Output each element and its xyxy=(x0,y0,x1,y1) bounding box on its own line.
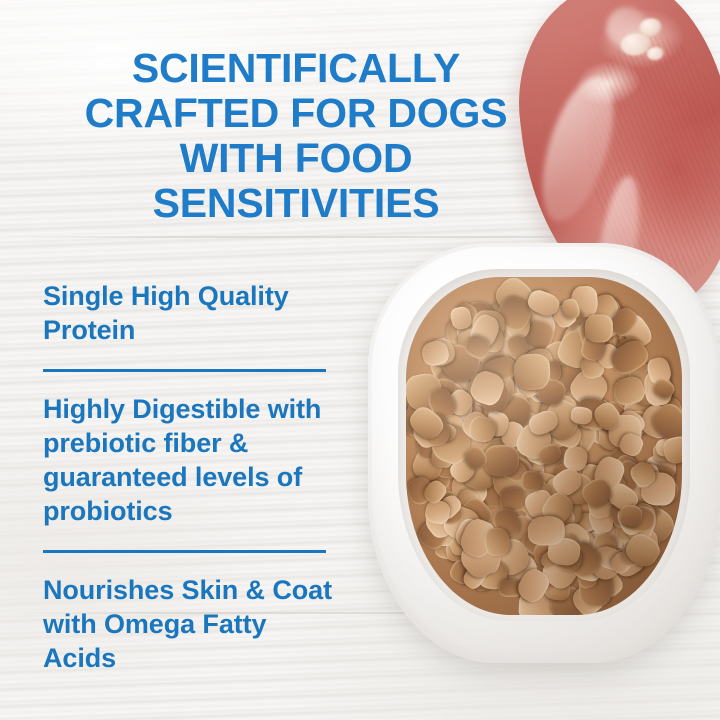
kibble-piece xyxy=(558,540,590,573)
kibble-piece xyxy=(638,461,678,502)
kibble-piece xyxy=(494,545,542,592)
kibble-piece xyxy=(518,300,560,344)
kibble-piece xyxy=(478,561,508,590)
kibble-piece xyxy=(456,547,489,581)
kibble-piece xyxy=(608,549,636,578)
kibble-piece xyxy=(544,359,563,382)
kibble-piece xyxy=(439,341,484,385)
kibble-piece xyxy=(525,288,562,320)
kibble-piece xyxy=(544,579,571,601)
feature-divider xyxy=(43,369,326,372)
kibble-piece xyxy=(567,579,608,615)
kibble-piece xyxy=(520,534,541,562)
kibble-piece xyxy=(548,359,586,395)
kibble-piece xyxy=(585,488,616,521)
kibble-piece xyxy=(428,354,456,382)
kibble-piece xyxy=(541,540,585,581)
kibble-piece xyxy=(539,548,583,593)
kibble-piece xyxy=(642,369,675,407)
bowl-interior xyxy=(398,269,690,621)
kibble-piece xyxy=(547,518,594,566)
kibble-piece xyxy=(510,345,556,391)
kibble-piece xyxy=(584,542,627,585)
kibble-piece xyxy=(617,310,656,351)
kibble-piece xyxy=(516,366,543,393)
kibble-piece xyxy=(441,506,465,527)
kibble-piece xyxy=(488,407,509,423)
kibble-piece xyxy=(631,501,678,547)
kibble-piece xyxy=(406,403,447,443)
kibble-piece xyxy=(467,311,503,351)
kibble-piece xyxy=(642,377,673,408)
kibble-piece xyxy=(444,350,471,377)
kibble-piece xyxy=(522,346,556,379)
kibble-piece xyxy=(623,364,669,410)
kibble-piece xyxy=(627,458,659,490)
kibble-piece xyxy=(513,475,556,521)
kibble-piece xyxy=(466,417,504,459)
kibble-piece xyxy=(449,503,487,539)
kibble-piece xyxy=(447,530,485,564)
kibble-piece xyxy=(483,298,529,345)
kibble-piece xyxy=(570,406,592,425)
kibble-piece xyxy=(560,536,605,582)
kibble-piece xyxy=(501,452,535,482)
kibble-piece xyxy=(531,565,557,592)
kibble-pile xyxy=(406,277,682,615)
kibble-piece xyxy=(606,335,652,379)
kibble-piece xyxy=(440,333,478,371)
kibble-piece xyxy=(607,305,641,340)
kibble-piece xyxy=(515,365,546,398)
product-feature-graphic: SCIENTIFICALLY CRAFTED FOR DOGS WITH FOO… xyxy=(0,0,720,720)
kibble-piece xyxy=(612,407,648,442)
kibble-piece xyxy=(461,529,487,554)
kibble-piece xyxy=(613,407,652,442)
page-title: SCIENTIFICALLY CRAFTED FOR DOGS WITH FOO… xyxy=(28,46,564,226)
kibble-piece xyxy=(446,454,478,486)
kibble-piece xyxy=(537,390,580,434)
kibble-piece xyxy=(513,353,551,391)
kibble-piece xyxy=(512,334,540,365)
kibble-piece xyxy=(448,468,490,510)
kibble-piece xyxy=(550,585,583,615)
kibble-piece xyxy=(465,378,502,411)
kibble-piece xyxy=(545,475,576,507)
kibble-piece xyxy=(460,302,497,343)
kibble-piece xyxy=(574,560,602,583)
kibble-piece xyxy=(406,473,438,508)
kibble-piece xyxy=(618,431,646,458)
kibble-piece xyxy=(568,461,609,501)
kibble-piece xyxy=(449,392,485,429)
kibble-piece xyxy=(581,529,611,560)
kibble-piece xyxy=(406,405,430,438)
kibble-piece xyxy=(444,386,476,419)
kibble-piece xyxy=(638,386,667,418)
kibble-piece xyxy=(623,530,665,571)
kibble-piece xyxy=(461,443,490,472)
kibble-piece xyxy=(623,527,659,563)
kibble-piece xyxy=(446,321,468,344)
kibble-piece xyxy=(433,378,457,398)
kibble-piece xyxy=(647,398,682,446)
kibble-piece xyxy=(537,420,570,452)
kibble-piece xyxy=(641,472,676,506)
kibble-piece xyxy=(615,520,637,543)
kibble-piece xyxy=(617,326,641,351)
kibble-piece xyxy=(560,520,599,558)
kibble-piece xyxy=(521,471,542,492)
kibble-piece xyxy=(481,353,518,384)
kibble-piece xyxy=(607,469,654,516)
kibble-piece xyxy=(594,483,622,509)
kibble-piece xyxy=(447,503,478,540)
kibble-piece xyxy=(652,442,677,462)
kibble-piece xyxy=(607,496,645,532)
kibble-piece xyxy=(594,544,626,572)
kibble-piece xyxy=(493,461,520,484)
kibble-piece xyxy=(510,407,542,440)
kibble-piece xyxy=(444,356,477,389)
kibble-piece xyxy=(481,379,512,409)
kibble-piece xyxy=(409,415,445,451)
kibble-piece xyxy=(415,517,452,553)
kibble-piece xyxy=(419,338,451,369)
kibble-piece xyxy=(430,420,458,443)
kibble-piece xyxy=(595,313,622,341)
kibble-piece xyxy=(488,463,530,505)
kibble-piece xyxy=(502,472,529,492)
kibble-piece xyxy=(654,436,682,459)
kibble-piece xyxy=(538,546,565,572)
kibble-piece xyxy=(537,353,564,378)
kibble-piece xyxy=(433,363,474,403)
kibble-piece xyxy=(462,333,492,361)
kibble-piece xyxy=(461,542,506,587)
kibble-piece xyxy=(581,463,605,484)
kibble-piece xyxy=(538,529,567,556)
kibble-piece xyxy=(470,352,518,401)
kibble-piece xyxy=(482,327,504,353)
kibble-piece xyxy=(570,285,598,318)
kibble-piece xyxy=(468,415,498,444)
kibble-piece xyxy=(558,392,585,421)
kibble-piece xyxy=(452,537,494,579)
kibble-piece xyxy=(464,546,504,585)
kibble-piece xyxy=(597,522,632,551)
kibble-piece xyxy=(514,565,554,607)
kibble-piece xyxy=(491,363,518,394)
headline-line-3: WITH FOOD xyxy=(28,136,564,181)
kibble-piece xyxy=(589,293,626,334)
kibble-piece xyxy=(618,544,642,573)
kibble-piece xyxy=(439,333,466,359)
kibble-piece xyxy=(461,552,505,595)
kibble-piece xyxy=(623,504,657,543)
kibble-piece xyxy=(532,540,558,566)
kibble-piece xyxy=(563,446,589,472)
kibble-piece xyxy=(487,370,512,397)
kibble-piece xyxy=(453,515,490,552)
kibble-piece xyxy=(519,366,560,407)
kibble-piece xyxy=(610,489,641,524)
kibble-piece xyxy=(607,490,654,536)
kibble-piece xyxy=(484,399,520,434)
headline-line-4: SENSITIVITIES xyxy=(28,181,564,226)
kibble-piece xyxy=(458,433,490,471)
kibble-piece xyxy=(611,325,647,358)
kibble-piece xyxy=(428,421,474,467)
kibble-piece xyxy=(519,528,554,561)
kibble-piece xyxy=(535,508,567,537)
kibble-piece xyxy=(492,392,533,430)
kibble-piece xyxy=(433,333,463,362)
kibble-piece xyxy=(453,310,497,353)
kibble-piece xyxy=(512,432,546,467)
kibble-piece xyxy=(488,534,535,581)
kibble-piece xyxy=(593,534,616,561)
kibble-piece xyxy=(497,511,537,549)
kibble-piece xyxy=(605,444,640,481)
kibble-piece xyxy=(562,436,582,458)
kibble-piece xyxy=(611,451,641,481)
kibble-piece xyxy=(518,455,545,483)
kibble-piece xyxy=(441,422,476,455)
kibble-piece xyxy=(527,368,564,402)
kibble-piece xyxy=(592,567,627,602)
kibble-piece xyxy=(458,494,496,532)
kibble-piece xyxy=(421,467,453,496)
kibble-piece xyxy=(559,336,598,371)
kibble-piece xyxy=(625,502,657,535)
kibble-piece xyxy=(516,325,548,359)
kibble-piece xyxy=(639,472,681,508)
kibble-piece xyxy=(549,464,586,500)
kibble-piece xyxy=(510,435,553,478)
headline-line-1: SCIENTIFICALLY xyxy=(28,46,564,91)
kibble-piece xyxy=(424,384,459,422)
kibble-piece xyxy=(528,292,551,316)
kibble-piece xyxy=(426,410,471,453)
kibble-piece xyxy=(425,335,459,369)
kibble-piece xyxy=(440,497,473,531)
kibble-piece xyxy=(457,516,499,562)
kibble-piece xyxy=(433,452,461,479)
kibble-piece xyxy=(406,406,434,440)
kibble-piece xyxy=(526,407,561,439)
kibble-piece xyxy=(661,434,682,466)
kibble-piece xyxy=(417,410,452,449)
kibble-piece xyxy=(566,352,601,385)
kibble-piece xyxy=(559,416,601,460)
kibble-piece xyxy=(406,385,449,432)
kibble-piece xyxy=(558,338,602,378)
kibble-piece xyxy=(609,473,656,521)
kibble-piece xyxy=(591,470,629,508)
kibble-piece xyxy=(535,441,564,467)
kibble-piece xyxy=(589,467,617,496)
kibble-piece xyxy=(421,501,462,542)
kibble-piece xyxy=(507,444,537,474)
kibble-piece xyxy=(499,580,522,598)
kibble-piece xyxy=(514,573,545,604)
kibble-piece xyxy=(518,322,554,357)
kibble-piece xyxy=(574,564,598,590)
kibble-piece xyxy=(556,532,580,557)
kibble-bowl-image xyxy=(368,243,720,663)
kibble-piece xyxy=(459,460,490,488)
kibble-piece xyxy=(565,462,595,494)
kibble-piece xyxy=(457,407,493,443)
kibble-piece xyxy=(482,297,527,343)
kibble-piece xyxy=(532,423,576,467)
kibble-piece xyxy=(478,306,519,348)
kibble-piece xyxy=(608,414,642,448)
kibble-piece xyxy=(523,470,566,514)
kibble-piece xyxy=(550,421,583,451)
kibble-piece xyxy=(451,510,493,552)
kibble-piece xyxy=(449,391,480,421)
kibble-piece xyxy=(493,293,535,335)
kibble-piece xyxy=(495,328,537,370)
kibble-piece xyxy=(513,419,557,464)
kibble-piece xyxy=(498,303,535,337)
kibble-piece xyxy=(448,530,481,560)
kibble-piece xyxy=(620,389,660,428)
kibble-piece xyxy=(550,301,580,331)
kibble-piece xyxy=(617,469,655,508)
kibble-piece xyxy=(617,535,653,570)
kibble-piece xyxy=(415,424,447,454)
kibble-piece xyxy=(526,515,565,548)
kibble-piece xyxy=(579,570,612,606)
kibble-piece xyxy=(573,559,598,585)
kibble-piece xyxy=(434,540,459,561)
kibble-piece xyxy=(584,314,613,342)
kibble-piece xyxy=(566,391,593,419)
kibble-piece xyxy=(525,440,553,467)
kibble-piece xyxy=(578,353,606,381)
kibble-piece xyxy=(498,486,529,516)
kibble-piece xyxy=(432,387,475,426)
kibble-piece xyxy=(491,277,539,320)
kibble-piece xyxy=(614,502,648,538)
kibble-piece xyxy=(586,503,616,537)
kibble-piece xyxy=(467,368,507,408)
kibble-piece xyxy=(451,301,480,331)
kibble-piece xyxy=(457,491,490,524)
kibble-piece xyxy=(486,375,515,402)
feature-item-protein: Single High Quality Protein xyxy=(43,279,333,347)
kibble-piece xyxy=(619,505,656,535)
kibble-piece xyxy=(522,487,558,522)
kibble-piece xyxy=(474,434,516,477)
kibble-piece xyxy=(472,310,505,342)
kibble-piece xyxy=(429,516,468,547)
kibble-piece xyxy=(598,400,638,436)
kibble-piece xyxy=(441,504,483,545)
kibble-piece xyxy=(455,532,506,583)
kibble-piece xyxy=(516,471,566,521)
kibble-piece xyxy=(472,347,509,385)
kibble-piece xyxy=(531,367,562,398)
kibble-piece xyxy=(557,322,594,365)
kibble-piece xyxy=(431,446,454,468)
kibble-piece xyxy=(591,454,628,494)
kibble-piece xyxy=(609,371,657,419)
kibble-piece xyxy=(539,396,586,444)
kibble-piece xyxy=(491,563,520,594)
kibble-piece xyxy=(414,409,435,434)
kibble-piece xyxy=(523,518,562,557)
kibble-piece xyxy=(601,489,638,522)
kibble-piece xyxy=(476,547,501,574)
kibble-piece xyxy=(466,372,493,404)
kibble-piece xyxy=(468,564,497,594)
kibble-piece xyxy=(565,364,612,411)
kibble-piece xyxy=(406,392,443,431)
kibble-piece xyxy=(473,471,509,509)
kibble-piece xyxy=(570,395,605,432)
kibble-piece xyxy=(421,477,449,506)
feature-list: Single High Quality Protein Highly Diges… xyxy=(43,279,333,675)
kibble-piece xyxy=(577,394,619,435)
kibble-piece xyxy=(483,443,521,477)
kibble-piece xyxy=(424,500,451,526)
kibble-piece xyxy=(644,356,672,387)
kibble-piece xyxy=(589,425,614,448)
kibble-piece xyxy=(433,492,464,524)
kibble-piece xyxy=(449,305,474,331)
feature-item-digestibility: Highly Digestible with prebiotic fiber &… xyxy=(43,392,333,528)
kibble-piece xyxy=(579,474,616,511)
kibble-piece xyxy=(453,557,481,585)
kibble-piece xyxy=(474,370,508,404)
kibble-piece xyxy=(409,445,447,484)
kibble-piece xyxy=(590,399,625,435)
kibble-piece xyxy=(579,330,607,363)
kibble-piece xyxy=(496,455,529,484)
kibble-piece xyxy=(446,517,471,546)
kibble-piece xyxy=(484,365,516,395)
kibble-piece xyxy=(524,319,556,353)
kibble-piece xyxy=(550,455,594,498)
kibble-piece xyxy=(644,452,678,483)
kibble-piece xyxy=(428,378,472,422)
kibble-piece xyxy=(561,306,586,331)
kibble-piece xyxy=(450,422,491,462)
kibble-piece xyxy=(492,526,535,565)
kibble-piece xyxy=(411,379,442,411)
kibble-piece xyxy=(477,344,504,366)
kibble-piece xyxy=(625,358,668,399)
kibble-piece xyxy=(582,291,622,328)
kibble-piece xyxy=(555,544,585,573)
kibble-piece xyxy=(498,419,525,449)
kibble-piece xyxy=(445,539,471,563)
kibble-piece xyxy=(648,395,682,430)
kibble-piece xyxy=(651,376,677,401)
kibble-piece xyxy=(542,338,573,370)
kibble-piece xyxy=(557,473,593,506)
kibble-piece xyxy=(608,539,650,580)
kibble-piece xyxy=(607,456,644,496)
feature-divider xyxy=(43,550,326,553)
kibble-piece xyxy=(493,463,521,488)
kibble-piece xyxy=(460,561,489,591)
kibble-piece xyxy=(604,480,642,516)
